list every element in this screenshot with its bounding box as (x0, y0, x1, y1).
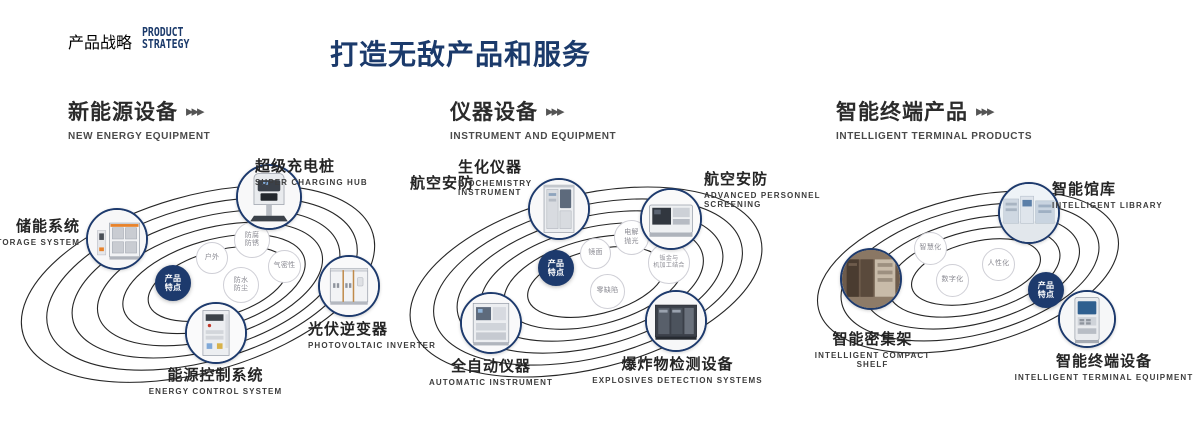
core-bubble-line2: 特点 (1038, 290, 1055, 299)
feature-bubble-label: 零缺陷 (597, 287, 619, 296)
core-bubble-intelligent-terminal: 产品 特点 (1028, 272, 1064, 308)
feature-bubble-line2: 防锈 (245, 240, 260, 247)
feature-bubble-line1: 防水 (234, 277, 249, 284)
node-explosives-detection[interactable] (645, 290, 707, 352)
battery-cabinet-photo (88, 210, 146, 268)
page-title-cn: 产品战略 (68, 29, 132, 53)
feature-bubble-line1: 电解 (624, 229, 639, 236)
label-en: ENERGY STORAGE SYSTEM (0, 238, 80, 247)
chevron-right-icon: ▸▸▸ (186, 102, 203, 120)
page-subtitle: 打造无敌产品和服务 (330, 33, 591, 73)
label-en: SUPER CHARGING HUB (255, 178, 368, 187)
label-cn: 智能馆库 (1052, 178, 1163, 199)
label-energy-control-system: 能源控制系统 ENERGY CONTROL SYSTEM (88, 364, 343, 396)
label-en: INTELLIGENT TERMINAL EQUIPMENT (1008, 373, 1200, 382)
feature-bubble-line1: 防腐 (245, 232, 260, 239)
feature-bubble-line2: 机加工结合 (653, 263, 685, 269)
label-en: INTELLIGENT LIBRARY (1052, 201, 1163, 210)
label-en: ENERGY CONTROL SYSTEM (88, 387, 343, 396)
label-en: INTELLIGENT COMPACT SHELF (800, 351, 945, 369)
section-title-intelligent-terminal: 智能终端产品▸▸▸ INTELLIGENT TERMINAL PRODUCTS (836, 96, 1032, 142)
smart-library-photo (1000, 184, 1058, 242)
panel-new-energy: 产品 特点 户外 防腐 防锈 防水 防尘 气密性 (0, 150, 430, 422)
core-bubble-new-energy: 产品 特点 (155, 265, 191, 301)
feature-bubble-label: 数字化 (942, 276, 964, 285)
section-title-en: INTELLIGENT TERMINAL PRODUCTS (836, 131, 1032, 142)
label-cn: 能源控制系统 (88, 364, 343, 385)
label-cn: 全自动仪器 (416, 355, 566, 376)
label-explosives-detection: 爆炸物检测设备 EXPLOSIVES DETECTION SYSTEMS (590, 353, 765, 385)
label-super-charging-hub: 超级充电桩 SUPER CHARGING HUB (255, 155, 368, 187)
node-energy-storage[interactable] (86, 208, 148, 270)
screening-machine-photo (642, 190, 700, 248)
node-smart-library[interactable] (998, 182, 1060, 244)
panel-instrument: 产品 特点 镜面 电解 抛光 钣金与 机加工结合 零缺陷 航空安防 (400, 150, 820, 422)
feature-bubble-airtight: 气密性 (268, 250, 301, 283)
compact-shelf-photo (842, 250, 900, 308)
explosives-detector-photo (647, 292, 705, 350)
label-cn: 生化仪器 (458, 156, 568, 177)
node-advanced-personnel-screening[interactable] (640, 188, 702, 250)
label-cn: 超级充电桩 (255, 155, 368, 176)
feature-bubble-label: 人性化 (988, 260, 1010, 269)
poster-stage: 产品战略 PRODUCT STRATEGY 打造无敌产品和服务 新能源设备▸▸▸… (0, 0, 1200, 422)
section-title-cn: 仪器设备 (450, 96, 538, 126)
section-title-en: NEW ENERGY EQUIPMENT (68, 131, 210, 142)
feature-bubble-label: 户外 (205, 254, 220, 263)
label-en: EXPLOSIVES DETECTION SYSTEMS (590, 376, 765, 385)
node-automatic-instrument[interactable] (460, 292, 522, 354)
core-bubble-line1: 产品 (548, 259, 565, 268)
node-energy-control-system[interactable] (185, 302, 247, 364)
label-terminal-kiosk: 智能终端设备 INTELLIGENT TERMINAL EQUIPMENT (1008, 350, 1200, 382)
feature-bubble-label: 智慧化 (920, 244, 942, 253)
label-en: AUTOMATIC INSTRUMENT (416, 378, 566, 387)
feature-bubble-humanization: 人性化 (982, 248, 1015, 281)
page-title: 产品战略 PRODUCT STRATEGY (68, 26, 200, 53)
core-bubble-line2: 特点 (548, 268, 565, 277)
panel-intelligent-terminal: 智慧化 数字化 人性化 产品 特点 (790, 150, 1200, 422)
label-en: BIOCHEMISTRY INSTRUMENT (458, 179, 568, 197)
feature-bubble-line2: 防尘 (234, 285, 249, 292)
core-bubble-line1: 产品 (1038, 281, 1055, 290)
label-energy-storage: 储能系统 ENERGY STORAGE SYSTEM (0, 215, 80, 247)
node-photovoltaic-inverter[interactable] (318, 255, 380, 317)
chevron-right-icon: ▸▸▸ (546, 102, 563, 120)
section-title-instrument: 仪器设备▸▸▸ INSTRUMENT AND EQUIPMENT (450, 96, 616, 142)
label-cn: 智能终端设备 (1008, 350, 1200, 371)
feature-bubble-waterproof: 防水 防尘 (223, 267, 259, 303)
feature-bubble-intelligentization: 智慧化 (914, 232, 947, 265)
feature-bubble-label: 镜面 (588, 249, 603, 258)
section-title-cn: 新能源设备 (68, 96, 178, 126)
core-bubble-line2: 特点 (165, 283, 182, 292)
label-compact-shelf: 智能密集架 INTELLIGENT COMPACT SHELF (800, 328, 945, 369)
feature-bubble-line1: 钣金与 (660, 256, 679, 262)
node-terminal-kiosk[interactable] (1058, 290, 1116, 348)
feature-bubble-label: 气密性 (274, 262, 296, 271)
feature-bubble-zerodefect: 零缺陷 (590, 274, 625, 309)
section-title-cn: 智能终端产品 (836, 96, 968, 126)
section-title-en: INSTRUMENT AND EQUIPMENT (450, 131, 616, 142)
automatic-instrument-photo (462, 294, 520, 352)
chevron-right-icon: ▸▸▸ (976, 102, 993, 120)
pv-inverter-photo (320, 257, 378, 315)
node-compact-shelf[interactable] (840, 248, 902, 310)
label-automatic-instrument: 全自动仪器 AUTOMATIC INSTRUMENT (416, 355, 566, 387)
core-bubble-instrument: 产品 特点 (538, 250, 574, 286)
label-cn: 爆炸物检测设备 (590, 353, 765, 374)
label-cn: 智能密集架 (800, 328, 945, 349)
label-smart-library: 智能馆库 INTELLIGENT LIBRARY (1052, 178, 1163, 210)
terminal-kiosk-photo (1060, 292, 1114, 346)
page-title-en-line2: STRATEGY (142, 38, 189, 50)
label-cn: 储能系统 (0, 215, 80, 236)
feature-bubble-outdoor: 户外 (196, 242, 228, 274)
feature-bubble-digitalization: 数字化 (936, 264, 969, 297)
label-biochemistry-instrument: 生化仪器 BIOCHEMISTRY INSTRUMENT (458, 156, 568, 197)
page-title-en: PRODUCT STRATEGY (142, 26, 189, 50)
section-title-new-energy: 新能源设备▸▸▸ NEW ENERGY EQUIPMENT (68, 96, 210, 142)
core-bubble-line1: 产品 (165, 274, 182, 283)
control-cabinet-photo (187, 304, 245, 362)
feature-bubble-mirror: 镜面 (580, 238, 611, 269)
feature-bubble-line2: 抛光 (624, 238, 639, 245)
